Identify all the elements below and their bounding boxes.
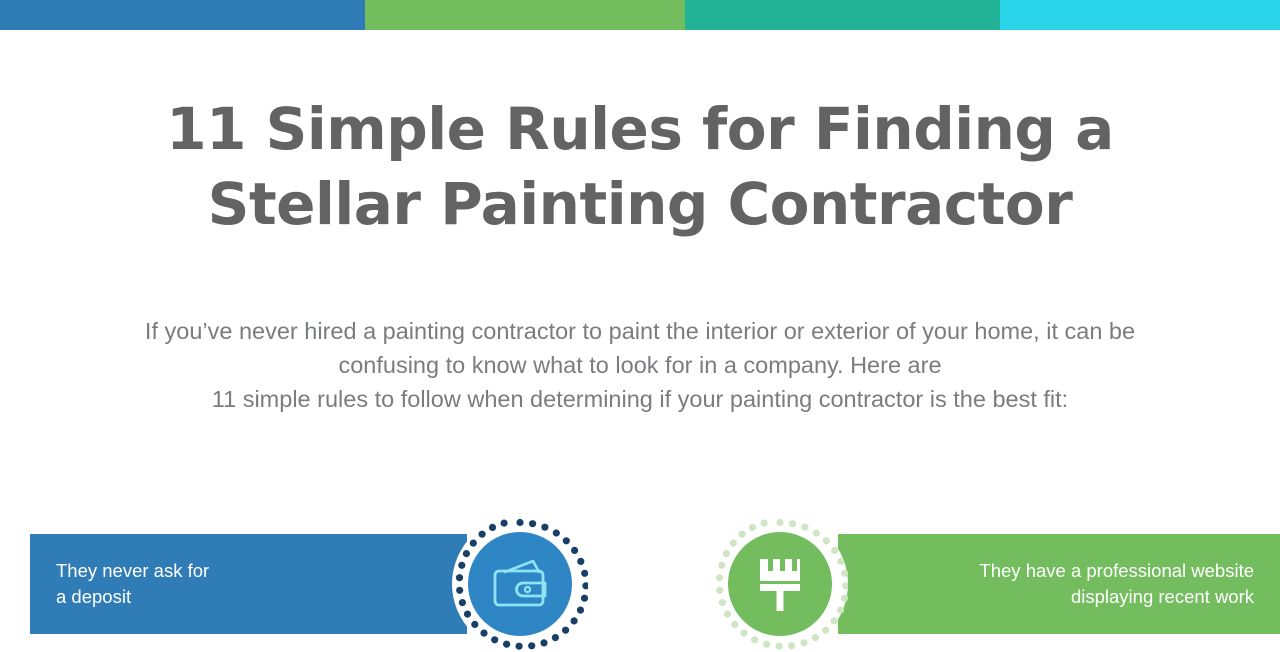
topbar-segment-blue [0, 0, 365, 30]
rules-strip: They never ask for a deposit [0, 527, 1280, 649]
topbar-segment-cyan [1000, 0, 1280, 30]
paintbrush-icon [750, 553, 810, 615]
rule-label-line-2: displaying recent work [979, 584, 1254, 610]
rule-medallion-professional-website [712, 516, 848, 652]
rule-medallion-no-deposit [452, 516, 588, 652]
rule-label-line-1: They never ask for [56, 558, 209, 584]
rule-label-line-1: They have a professional website [979, 558, 1254, 584]
page-title: 11 Simple Rules for Finding a Stellar Pa… [0, 92, 1280, 242]
rule-icon-disc-blue [468, 532, 572, 636]
intro-line-2: confusing to know what to look for in a … [70, 348, 1210, 382]
page-title-line-1: 11 Simple Rules for Finding a [60, 92, 1220, 167]
page-title-line-2: Stellar Painting Contractor [60, 167, 1220, 242]
rule-item-no-deposit[interactable]: They never ask for a deposit [30, 534, 467, 634]
wallet-icon [489, 556, 551, 612]
intro-paragraph: If you’ve never hired a painting contrac… [0, 314, 1280, 416]
rule-icon-disc-green [728, 532, 832, 636]
rule-label-professional-website: They have a professional website display… [979, 558, 1254, 610]
rule-label-no-deposit: They never ask for a deposit [56, 558, 209, 610]
rule-item-professional-website[interactable]: They have a professional website display… [838, 534, 1280, 634]
rule-label-line-2: a deposit [56, 584, 209, 610]
topbar-segment-teal [685, 0, 1000, 30]
topbar-segment-green [365, 0, 685, 30]
intro-line-1: If you’ve never hired a painting contrac… [70, 314, 1210, 348]
intro-line-3: 11 simple rules to follow when determini… [70, 382, 1210, 416]
top-color-bar [0, 0, 1280, 30]
